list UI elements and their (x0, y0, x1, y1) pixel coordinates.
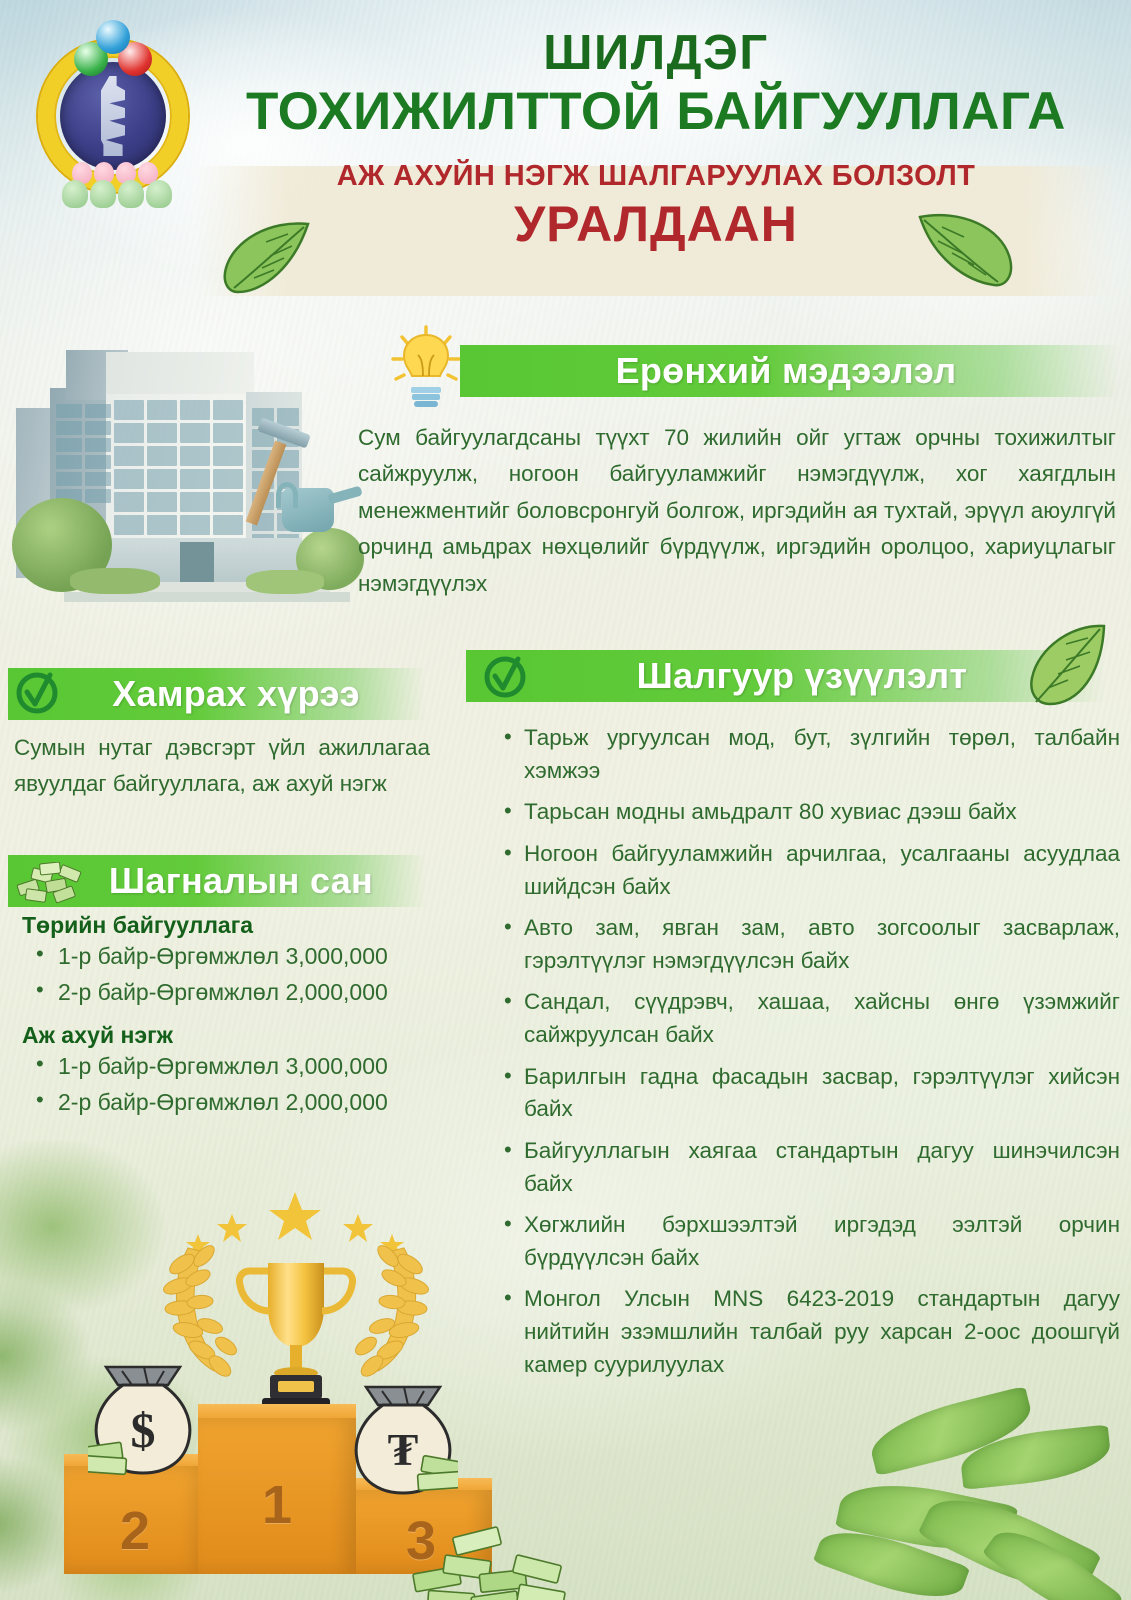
title-subtitle: АЖ АХУЙН НЭГЖ ШАЛГАРУУЛАХ БОЛЗОЛТ (196, 160, 1116, 193)
section-header-general: Ерөнхий мэдээлэл (460, 345, 1120, 397)
poster-title-block: ШИЛДЭГ ТОХИЖИЛТТОЙ БАЙГУУЛЛАГА АЖ АХУЙН … (196, 28, 1116, 253)
list-item: Авто зам, явган зам, авто зогсоолыг засв… (498, 912, 1120, 977)
prize-item: 1-р байр-Өргөмжлөл 3,000,000 (22, 939, 452, 975)
list-item: Тарьсан модны амьдралт 80 хувиас дээш ба… (498, 796, 1120, 829)
money-pile (410, 1510, 580, 1600)
prize-group-label-state: Төрийн байгууллага (22, 912, 452, 939)
svg-text:$: $ (131, 1402, 156, 1458)
prize-list-state: 1-р байр-Өргөмжлөл 3,000,000 2-р байр-Өр… (22, 939, 452, 1010)
section-title-scope: Хамрах хүрээ (8, 673, 426, 715)
prize-item: 2-р байр-Өргөмжлөл 2,000,000 (22, 1085, 452, 1121)
scope-paragraph: Сумын нутаг дэвсгэрт үйл ажиллагаа явуул… (14, 730, 430, 803)
list-item: Тарьж ургуулсан мод, бут, зүлгийн төрөл,… (498, 722, 1120, 787)
title-line-3: УРАЛДААН (196, 195, 1116, 253)
prize-group-state: Төрийн байгууллага 1-р байр-Өргөмжлөл 3,… (22, 912, 452, 1010)
mongolia-state-emblem (28, 14, 198, 234)
lightbulb-icon (390, 325, 462, 411)
section-header-scope: Хамрах хүрээ (8, 668, 426, 720)
money-icon (16, 862, 86, 906)
prize-group-business: Аж ахуй нэгж 1-р байр-Өргөмжлөл 3,000,00… (22, 1022, 452, 1120)
money-bag-left: $ (88, 1355, 198, 1480)
trophy-icon (226, 1255, 366, 1420)
podium-rank-2: 2 (64, 1500, 206, 1562)
general-info-paragraph: Сум байгуулагдсаны түүхт 70 жилийн ойг у… (358, 420, 1116, 602)
podium-rank-1: 1 (198, 1474, 356, 1536)
title-line-2: ТОХИЖИЛТТОЙ БАЙГУУЛЛАГА (196, 83, 1116, 141)
list-item: Барилгын гадна фасадын засвар, гэрэлтүүл… (498, 1061, 1120, 1126)
svg-text:₮: ₮ (388, 1424, 419, 1475)
section-title-criteria: Шалгуур үзүүлэлт (466, 655, 1106, 697)
poster-root: ШИЛДЭГ ТОХИЖИЛТТОЙ БАЙГУУЛЛАГА АЖ АХУЙН … (0, 0, 1131, 1600)
podium-step-first: 1 (198, 1418, 356, 1574)
emblem-ball-blue (96, 20, 130, 54)
prize-group-label-business: Аж ахуй нэгж (22, 1022, 452, 1049)
money-bag-right: ₮ (348, 1375, 458, 1497)
prize-item: 2-р байр-Өргөмжлөл 2,000,000 (22, 975, 452, 1011)
list-item: Сандал, сүүдрэвч, хашаа, хайсны өнгө үзэ… (498, 986, 1120, 1051)
section-header-criteria: Шалгуур үзүүлэлт (466, 650, 1106, 702)
list-item: Ногоон байгууламжийн арчилгаа, усалгааны… (498, 838, 1120, 903)
prize-item: 1-р байр-Өргөмжлөл 3,000,000 (22, 1049, 452, 1085)
check-circle-icon-criteria (482, 654, 528, 700)
criteria-list: Тарьж ургуулсан мод, бут, зүлгийн төрөл,… (498, 722, 1120, 1390)
check-circle-icon-scope (14, 670, 60, 716)
prize-list-business: 1-р байр-Өргөмжлөл 3,000,000 2-р байр-Өр… (22, 1049, 452, 1120)
list-item: Байгууллагын хаягаа стандартын дагуу шин… (498, 1135, 1120, 1200)
podium-step-second: 2 (64, 1466, 206, 1574)
section-title-general: Ерөнхий мэдээлэл (460, 350, 1120, 392)
title-line-1: ШИЛДЭГ (196, 28, 1116, 79)
office-building-illustration (10, 330, 370, 630)
list-item: Хөгжлийн бэрхшээлтэй иргэдэд ээлтэй орчи… (498, 1209, 1120, 1274)
winners-podium-illustration: 2 3 1 $ ₮ (30, 1170, 560, 1590)
list-item: Монгол Улсын MNS 6423-2019 стандартын да… (498, 1283, 1120, 1381)
lotus-green-petals (62, 180, 172, 208)
